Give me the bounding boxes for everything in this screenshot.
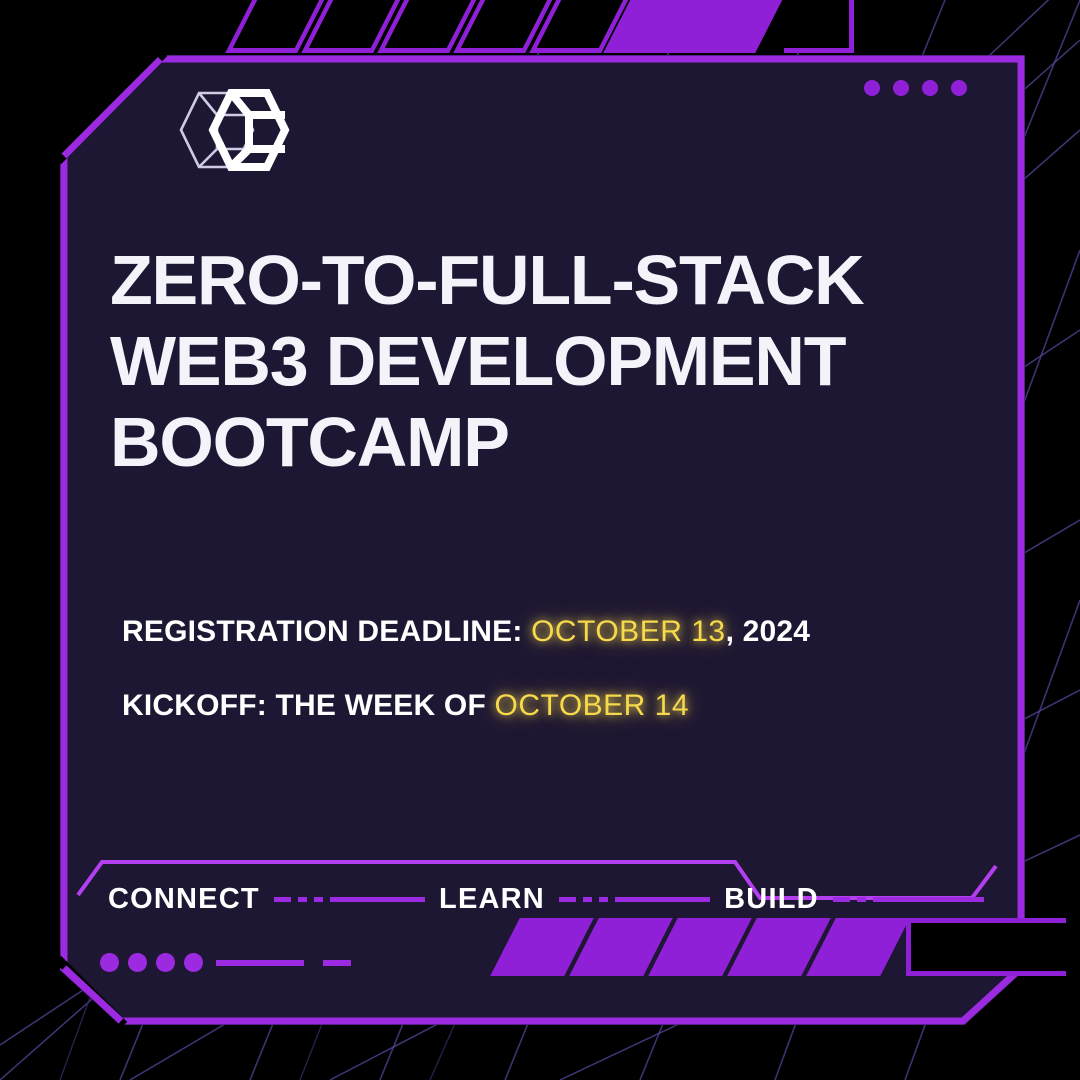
decor-bar-short: [323, 960, 351, 966]
process-steps: CONNECT LEARN BUILD: [108, 883, 998, 916]
decor-dot: [156, 953, 175, 972]
decor-bar-long: [216, 960, 304, 966]
top-right-dot-group: [864, 80, 967, 96]
kickoff-date: OCTOBER 14: [495, 689, 690, 722]
registration-deadline-year: , 2024: [726, 615, 811, 648]
kickoff-label: KICKOFF: THE WEEK OF: [122, 689, 486, 722]
registration-deadline-line: REGISTRATION DEADLINE: OCTOBER 13, 2024: [122, 615, 1002, 649]
decor-dot: [184, 953, 203, 972]
page-title: ZERO-TO-FULL-STACK WEB3 DEVELOPMENT BOOT…: [110, 240, 970, 484]
stripe-tail-block: [784, 0, 854, 53]
step-connector-3: [833, 897, 984, 902]
bottom-left-dot-group: [100, 953, 351, 972]
registration-deadline-label: REGISTRATION DEADLINE:: [122, 615, 523, 648]
poster-frame: ZERO-TO-FULL-STACK WEB3 DEVELOPMENT BOOT…: [60, 55, 1025, 1025]
step-connector-2: [559, 897, 710, 902]
stripe-solid-block: [603, 0, 785, 53]
top-stripe-bar: [240, 0, 854, 53]
decor-dot: [951, 80, 967, 96]
stripe-outline-block: [906, 918, 1066, 976]
registration-deadline-date: OCTOBER 13: [531, 615, 726, 648]
decor-dot: [100, 953, 119, 972]
step-connect: CONNECT: [108, 883, 260, 916]
kickoff-line: KICKOFF: THE WEEK OF OCTOBER 14: [122, 689, 1002, 723]
event-details: REGISTRATION DEADLINE: OCTOBER 13, 2024 …: [122, 615, 1002, 763]
headline-line-3: BOOTCAMP: [110, 402, 970, 483]
decor-dot: [128, 953, 147, 972]
step-build: BUILD: [724, 883, 819, 916]
decor-dot: [864, 80, 880, 96]
poster-canvas: ZERO-TO-FULL-STACK WEB3 DEVELOPMENT BOOT…: [0, 0, 1080, 1080]
headline-line-1: ZERO-TO-FULL-STACK: [110, 240, 970, 321]
step-learn: LEARN: [439, 883, 545, 916]
bottom-stripe-bar: [505, 918, 1066, 976]
decor-dot: [893, 80, 909, 96]
decor-dot: [922, 80, 938, 96]
headline-line-2: WEB3 DEVELOPMENT: [110, 321, 970, 402]
step-connector-1: [274, 897, 425, 902]
hexagon-cube-logo: [165, 85, 285, 175]
